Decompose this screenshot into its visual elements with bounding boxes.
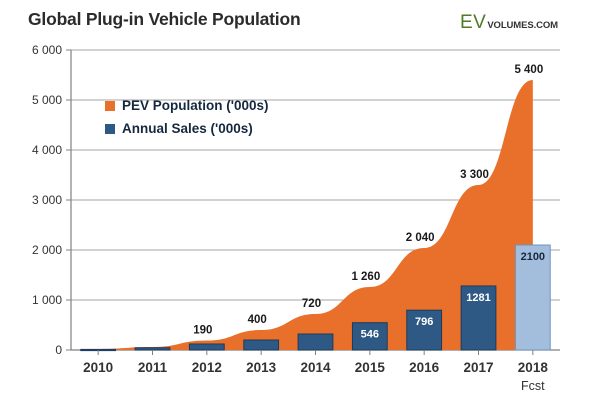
annual-sales-bar[interactable]	[189, 344, 224, 350]
x-axis-tick-label: 2017	[463, 360, 493, 375]
area-value-label: 5 400	[514, 64, 543, 76]
bar-value-label: 1281	[466, 292, 490, 304]
area-value-label: 1 260	[351, 271, 380, 283]
x-axis-tick-label: 2018	[518, 360, 549, 375]
x-axis-tick-label: 2012	[192, 360, 222, 375]
area-value-label: 720	[302, 298, 321, 310]
x-axis-tick-label: 2015	[355, 360, 386, 375]
annual-sales-bar[interactable]	[244, 340, 279, 350]
bar-value-label: 2100	[521, 251, 545, 263]
x-axis-tick-label: 2014	[300, 360, 331, 375]
y-axis-tick-label: 2 000	[32, 243, 62, 257]
bar-value-label: 796	[415, 316, 433, 328]
x-axis-sub-label: Fcst	[521, 379, 545, 393]
y-axis-tick-label: 1 000	[32, 293, 62, 307]
area-value-label: 190	[193, 325, 212, 337]
annual-sales-bar[interactable]	[135, 348, 170, 350]
area-value-label: 400	[248, 314, 267, 326]
area-value-label: 3 300	[460, 169, 489, 181]
y-axis-tick-label: 5 000	[32, 93, 62, 107]
bar-value-label: 546	[361, 329, 379, 341]
y-axis-tick-label: 3 000	[32, 193, 62, 207]
area-value-label: 2 040	[406, 232, 435, 244]
y-axis-tick-label: 0	[55, 343, 62, 357]
chart-plot-area: 01 0002 0003 0004 0005 0006 000546796128…	[0, 0, 600, 400]
y-axis-tick-label: 6 000	[32, 43, 62, 57]
legend-swatch	[105, 124, 115, 134]
legend-label[interactable]: PEV Population ('000s)	[122, 98, 269, 113]
x-axis-tick-label: 2011	[138, 360, 168, 375]
chart-screenshot: Global Plug-in Vehicle Population EV VOL…	[0, 0, 600, 400]
annual-sales-bar[interactable]	[298, 334, 333, 350]
legend-label[interactable]: Annual Sales ('000s)	[122, 121, 253, 136]
y-axis-tick-label: 4 000	[32, 143, 62, 157]
x-axis-tick-label: 2013	[246, 360, 277, 375]
x-axis-tick-label: 2016	[409, 360, 440, 375]
x-axis-tick-label: 2010	[83, 360, 113, 375]
legend-swatch	[105, 101, 115, 111]
